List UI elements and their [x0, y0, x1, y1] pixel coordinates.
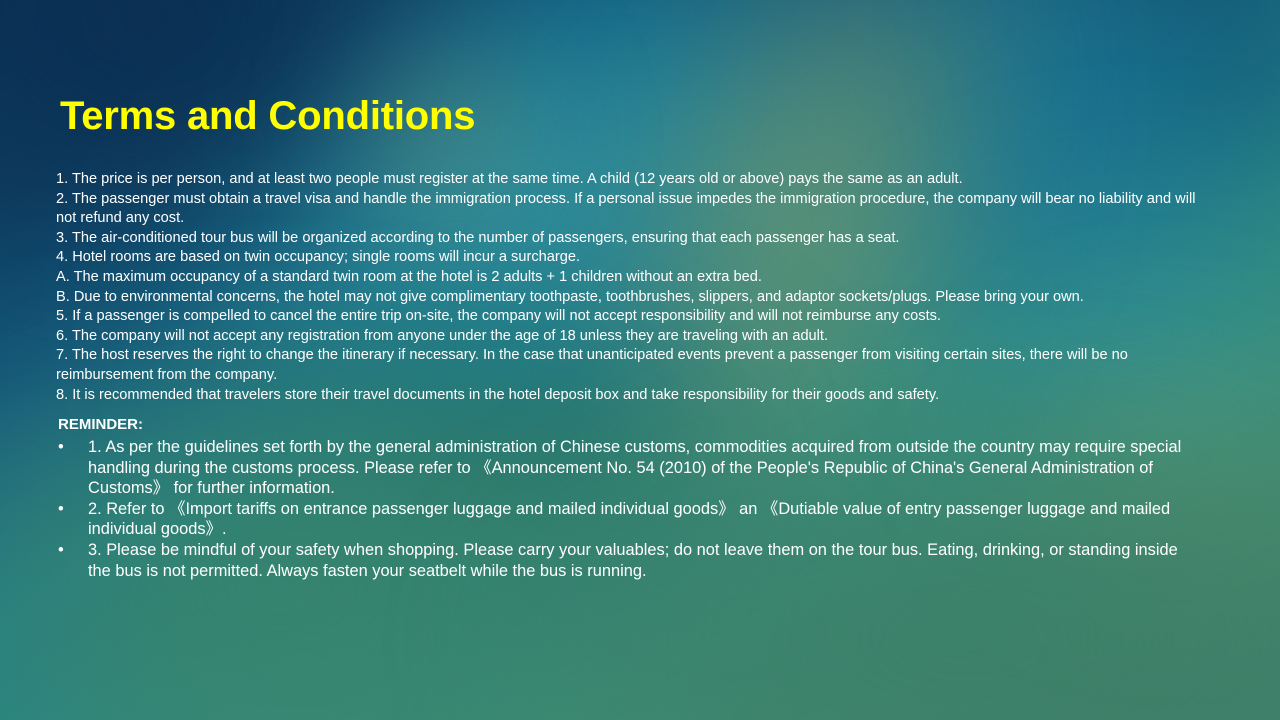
reminder-item-text: 2. Refer to 《Import tariffs on entrance … [88, 500, 1170, 539]
term-item: 8. It is recommended that travelers stor… [56, 386, 1206, 406]
term-item: 7. The host reserves the right to change… [56, 346, 1206, 385]
term-item: 4. Hotel rooms are based on twin occupan… [56, 248, 1206, 268]
page-title: Terms and Conditions [60, 94, 475, 138]
term-item: 2. The passenger must obtain a travel vi… [56, 190, 1206, 229]
reminder-item-text: 1. As per the guidelines set forth by th… [88, 438, 1181, 497]
slide-content: Terms and Conditions 1. The price is per… [0, 0, 1280, 720]
term-item: 3. The air-conditioned tour bus will be … [56, 229, 1206, 249]
reminder-item-text: 3. Please be mindful of your safety when… [88, 541, 1178, 580]
term-item: A. The maximum occupancy of a standard t… [56, 268, 1206, 288]
list-item: • 2. Refer to 《Import tariffs on entranc… [58, 499, 1203, 540]
reminder-section: REMINDER: • 1. As per the guidelines set… [58, 414, 1203, 581]
bullet-icon: • [58, 437, 72, 458]
list-item: • 3. Please be mindful of your safety wh… [58, 540, 1203, 581]
term-item: 1. The price is per person, and at least… [56, 170, 1206, 190]
bullet-icon: • [58, 499, 72, 520]
list-item: • 1. As per the guidelines set forth by … [58, 437, 1203, 499]
terms-list: 1. The price is per person, and at least… [56, 170, 1206, 405]
term-item: B. Due to environmental concerns, the ho… [56, 288, 1206, 308]
bullet-icon: • [58, 540, 72, 561]
reminder-heading: REMINDER: [58, 414, 1203, 435]
term-item: 5. If a passenger is compelled to cancel… [56, 307, 1206, 327]
term-item: 6. The company will not accept any regis… [56, 327, 1206, 347]
presentation-slide: Terms and Conditions 1. The price is per… [0, 0, 1280, 720]
